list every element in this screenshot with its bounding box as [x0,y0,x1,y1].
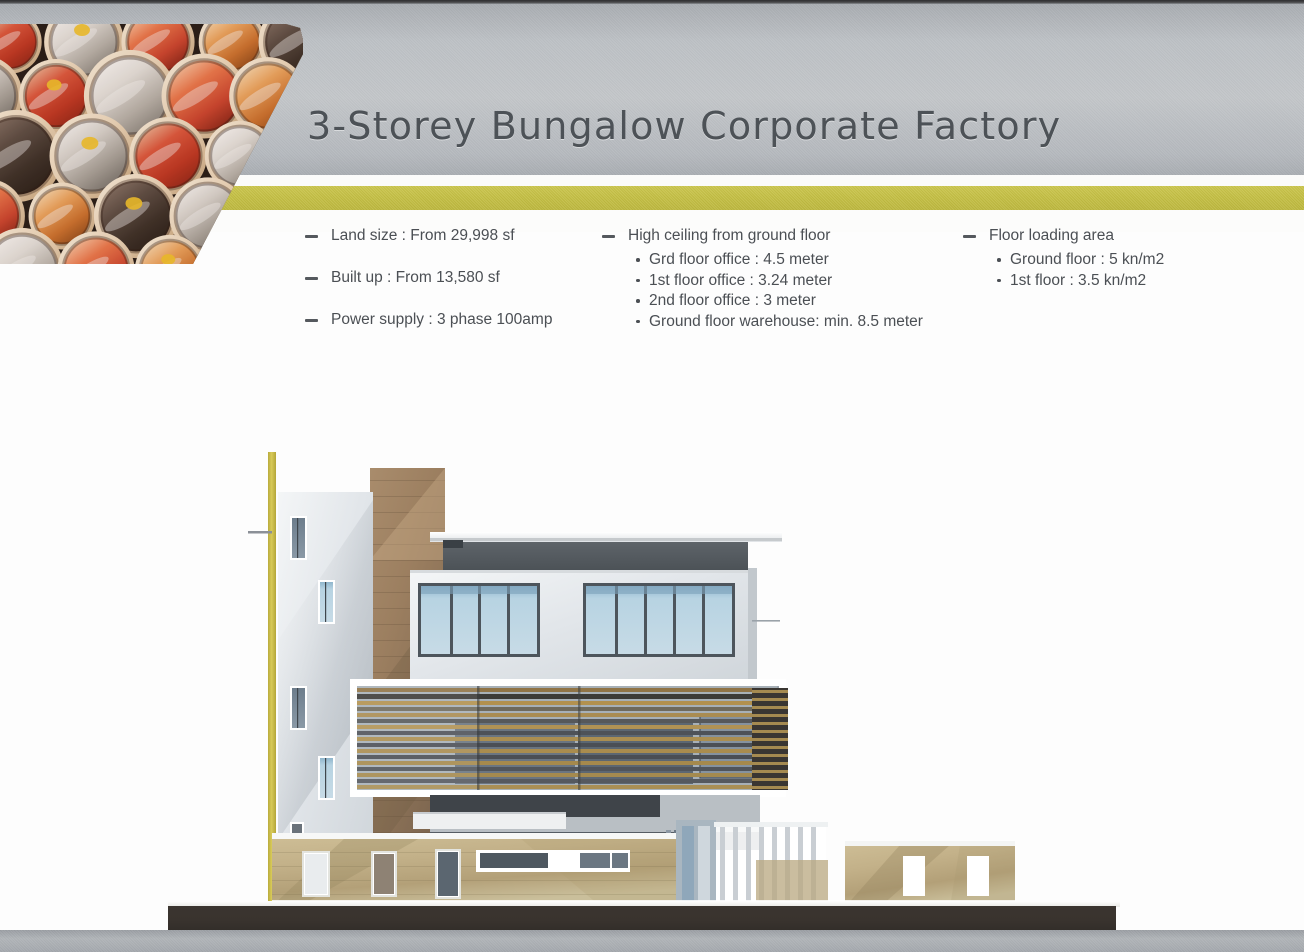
dash-marker-icon [602,235,615,238]
dash-marker-icon [963,235,976,238]
bullet-dot-icon [636,320,640,324]
spec-column-land: Land size : From 29,998 sf Built up : Fr… [305,226,605,352]
bullet-dot-icon [997,258,1001,262]
dash-marker-icon [305,319,318,322]
bullet-dot-icon [636,279,640,283]
top-hairline [0,0,1304,4]
spec-column-loading: Floor loading area Ground floor : 5 kn/m… [963,226,1263,291]
list-item: Grd floor office : 4.5 meter [636,250,962,270]
spec-floor-loading-heading: Floor loading area [963,226,1263,246]
spec-text: Power supply : 3 phase 100amp [331,311,552,328]
dash-marker-icon [305,277,318,280]
spec-text: Ground floor : 5 kn/m2 [1010,251,1164,268]
spec-built-up: Built up : From 13,580 sf [305,268,605,288]
dash-marker-icon [305,235,318,238]
list-item: Ground floor warehouse: min. 8.5 meter [636,312,962,332]
list-item: 1st floor : 3.5 kn/m2 [997,271,1263,291]
footer-gray-band [0,930,1304,952]
ceiling-sublist: Grd floor office : 4.5 meter 1st floor o… [636,250,962,331]
window-bank-left [418,583,540,657]
spec-text: 1st floor office : 3.24 meter [649,272,832,289]
spec-text: High ceiling from ground floor [628,227,830,244]
spec-text: Grd floor office : 4.5 meter [649,251,829,268]
bullet-dot-icon [636,258,640,262]
spec-text: Ground floor warehouse: min. 8.5 meter [649,313,923,330]
spec-column-ceiling: High ceiling from ground floor Grd floor… [602,226,962,332]
bullet-dot-icon [636,299,640,303]
brochure-page: 3-Storey Bungalow Corporate Factory Land… [0,0,1304,952]
spec-text: Built up : From 13,580 sf [331,269,500,286]
page-title: 3-Storey Bungalow Corporate Factory [307,104,1061,148]
spec-text: 1st floor : 3.5 kn/m2 [1010,272,1146,289]
list-item: Ground floor : 5 kn/m2 [997,250,1263,270]
list-item: 1st floor office : 3.24 meter [636,271,962,291]
spec-text: Floor loading area [989,227,1114,244]
spec-high-ceiling-heading: High ceiling from ground floor [602,226,962,246]
loading-sublist: Ground floor : 5 kn/m2 1st floor : 3.5 k… [997,250,1263,290]
bullet-dot-icon [997,279,1001,283]
spec-text: Land size : From 29,998 sf [331,227,515,244]
list-item: 2nd floor office : 3 meter [636,291,962,311]
ground-strip [168,906,1116,930]
spec-power-supply: Power supply : 3 phase 100amp [305,310,605,330]
window-bank-right [583,583,735,657]
spec-land-size: Land size : From 29,998 sf [305,226,605,246]
spec-text: 2nd floor office : 3 meter [649,292,816,309]
